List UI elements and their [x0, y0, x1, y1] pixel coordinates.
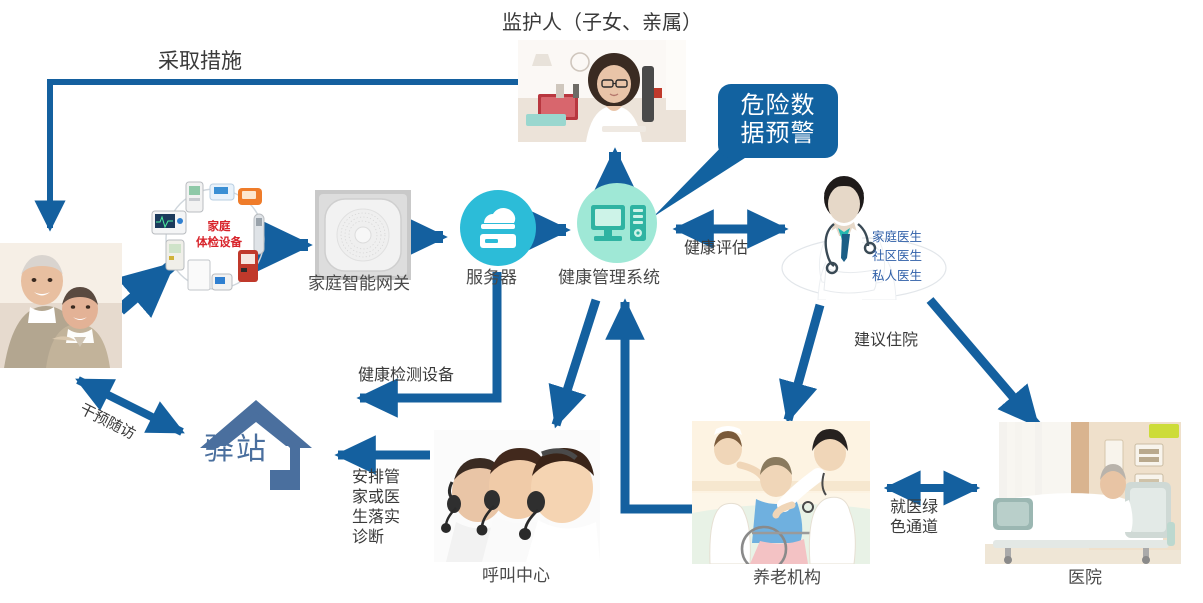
diagram-canvas: 监护人（子女、亲属） 危险数	[0, 0, 1203, 603]
arrange-line-2: 家或医	[352, 488, 416, 508]
system-caption: 健康管理系统	[558, 268, 660, 288]
doctor-role-1: 社区医生	[872, 247, 922, 266]
green-channel-line-2: 色通道	[890, 518, 966, 538]
eldercare-institution-illustration	[692, 421, 870, 564]
arrange-line-4: 诊断	[352, 528, 416, 548]
guardian-photo	[518, 40, 686, 142]
green-channel-label: 就医绿 色通道	[890, 498, 966, 538]
danger-alert-callout: 危险数 据预警	[718, 84, 838, 158]
device-cluster-label: 家庭 体检设备	[190, 220, 248, 251]
hospital-caption: 医院	[1068, 568, 1102, 588]
home-gateway-photo	[315, 190, 411, 280]
call-center-photo	[434, 430, 600, 562]
edge-system-to-callcenter	[556, 300, 596, 425]
health-management-system-icon	[577, 183, 657, 263]
elderly-couple-photo	[0, 243, 122, 368]
health-detect-devices-label: 健康检测设备	[358, 367, 454, 385]
hospital-room-photo	[985, 422, 1181, 564]
edge-eldercare-to-system	[625, 302, 695, 509]
edge-suggest-hospital	[788, 305, 820, 420]
callout-line-1: 危险数	[730, 92, 826, 120]
device-cluster-line-1: 家庭	[190, 220, 248, 236]
edge-doctor-to-hospital	[930, 300, 1037, 425]
green-channel-line-1: 就医绿	[890, 498, 966, 518]
doctor-role-list: 家庭医生 社区医生 私人医生	[872, 228, 922, 286]
server-caption: 服务器	[466, 268, 517, 288]
server-icon	[460, 190, 536, 266]
doctor-role-2: 私人医生	[872, 267, 922, 286]
callout-line-2: 据预警	[730, 120, 826, 148]
station-label: 驿站	[204, 424, 268, 468]
gateway-caption: 家庭智能网关	[308, 274, 410, 294]
arrange-butler-label: 安排管 家或医 生落实 诊断	[352, 468, 416, 548]
eldercare-caption: 养老机构	[753, 568, 821, 588]
arrange-line-1: 安排管	[352, 468, 416, 488]
device-cluster-line-2: 体检设备	[190, 236, 248, 252]
callcenter-caption: 呼叫中心	[482, 566, 550, 586]
home-checkup-devices-cluster: 家庭 体检设备	[150, 178, 280, 300]
doctor-illustration	[780, 172, 948, 300]
doctor-role-0: 家庭医生	[872, 228, 922, 247]
arrange-line-3: 生落实	[352, 508, 416, 528]
suggest-hospital-label: 建议住院	[854, 332, 918, 350]
health-assessment-label: 健康评估	[684, 240, 748, 258]
take-measures-label: 采取措施	[158, 50, 242, 74]
guardian-title: 监护人（子女、亲属）	[502, 6, 702, 35]
